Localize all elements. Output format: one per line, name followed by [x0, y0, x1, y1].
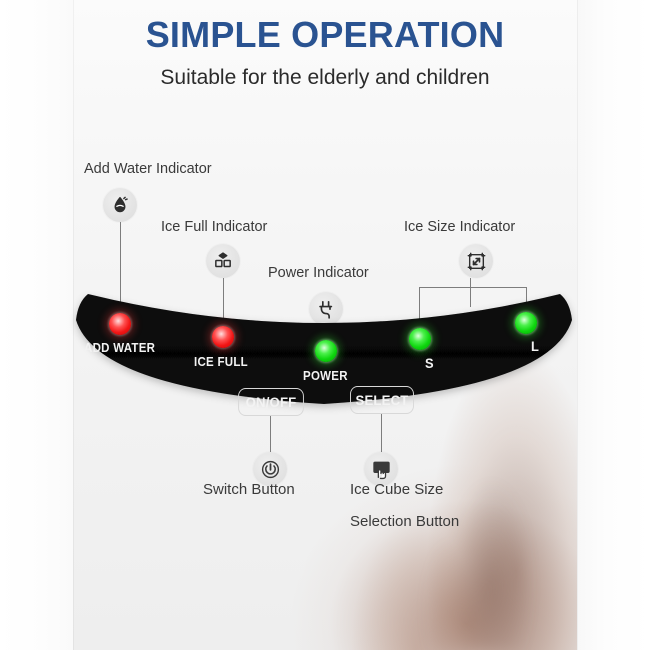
led-caption-ice-full: ICE FULL [194, 355, 248, 369]
led-ice-size-l [515, 312, 537, 334]
led-caption-ice-size-l: L [531, 338, 539, 354]
page-title: SIMPLE OPERATION [0, 0, 650, 54]
callout-label-add-water: Add Water Indicator [84, 161, 212, 177]
led-caption-ice-size-s: S [425, 355, 434, 371]
bottom-label-ice-cube-size-line2: Selection Button [350, 513, 459, 530]
callout-label-power: Power Indicator [268, 265, 369, 281]
connector-ice-cube-size-button [381, 414, 382, 452]
led-caption-add-water: ADD WATER [84, 341, 155, 355]
header: SIMPLE OPERATION Suitable for the elderl… [0, 0, 650, 90]
connector-switch-button [270, 416, 271, 452]
bottom-label-switch-button: Switch Button [203, 481, 295, 498]
right-margin-strip [577, 0, 650, 650]
led-ice-size-s [409, 328, 431, 350]
resize-arrows-icon [459, 244, 493, 278]
callout-label-ice-full: Ice Full Indicator [161, 219, 267, 235]
page-subtitle: Suitable for the elderly and children [0, 54, 650, 90]
select-button[interactable]: SELECT [350, 386, 414, 414]
ice-cubes-icon [206, 244, 240, 278]
led-ice-full [212, 326, 234, 348]
led-power [315, 340, 337, 362]
callout-label-ice-size: Ice Size Indicator [404, 219, 515, 235]
led-caption-power: POWER [303, 369, 348, 383]
water-drop-icon [103, 188, 137, 222]
on-off-button[interactable]: ON/OFF [238, 388, 304, 416]
bottom-label-ice-cube-size-line1: Ice Cube Size [350, 481, 443, 498]
led-add-water [109, 313, 131, 335]
screenshot-root: SIMPLE OPERATION Suitable for the elderl… [0, 0, 650, 650]
